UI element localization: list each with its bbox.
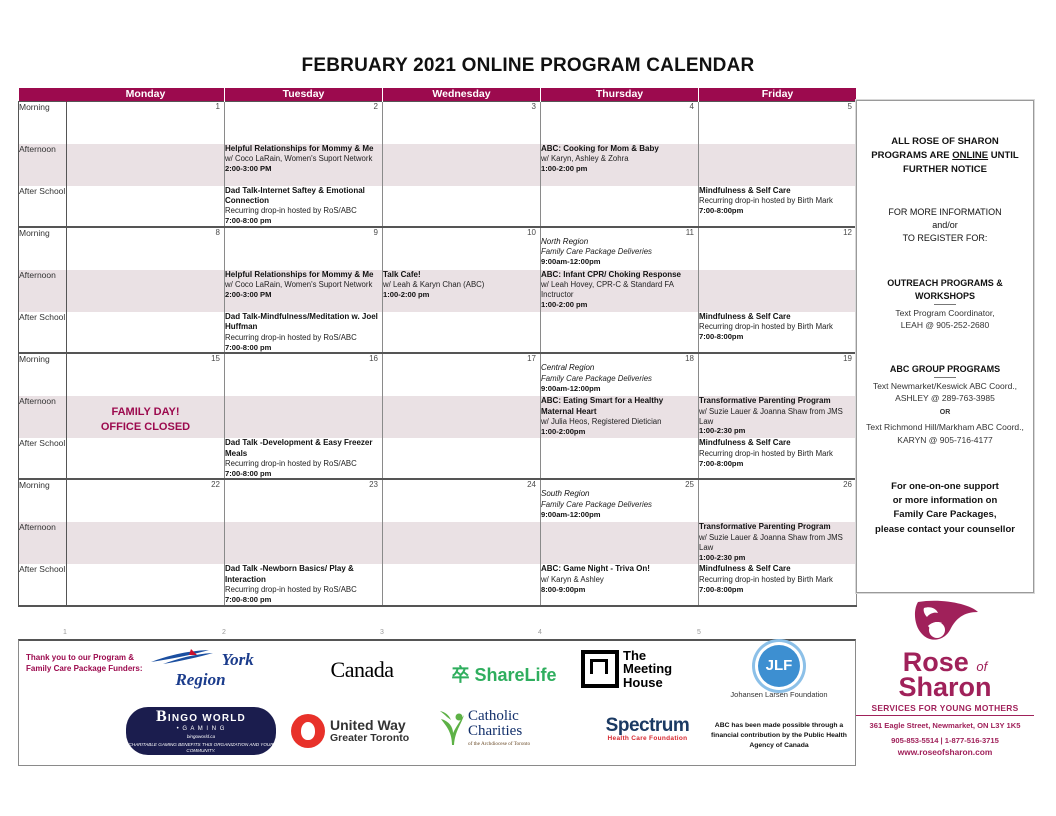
calendar-cell-day-19-morning[interactable]: 19 (699, 353, 857, 396)
event-time: 7:00-8:00pm (699, 206, 856, 216)
johansen-larsen-foundation-logo: JLF Johansen Larsen Foundation (719, 645, 839, 699)
outreach-contact-leah[interactable]: LEAH @ 905-252-2680 (863, 319, 1027, 331)
calendar-cell-day-18-after-school[interactable] (541, 438, 699, 479)
row-label-afternoon: Afternoon (19, 396, 67, 438)
calendar-week-1-row-afternoon: AfternoonHelpful Relationships for Mommy… (19, 144, 857, 186)
event-entry[interactable]: Transformative Parenting Programw/ Suzie… (699, 522, 856, 562)
event-presenter: w/ Suzie Lauer & Joanna Shaw from JMS La… (699, 533, 856, 553)
abc-title: ABC GROUP PROGRAMS (863, 363, 1027, 376)
event-title: Mindfulness & Self Care (699, 564, 856, 574)
outreach-section: OUTREACH PROGRAMS & WORKSHOPS Text Progr… (863, 277, 1027, 331)
calendar-week-4-row-after-school: After SchoolDad Talk -Newborn Basics/ Pl… (19, 564, 857, 605)
event-entry[interactable]: South RegionFamily Care Package Deliveri… (541, 489, 698, 519)
calendar-cell-day-8-morning[interactable]: 8 (67, 227, 225, 270)
abc-sub-3: Text Richmond Hill/Markham ABC Coord., (863, 421, 1027, 433)
ros-name-line-2: Sharon (856, 675, 1034, 700)
abc-contact-karyn[interactable]: KARYN @ 905-716-4177 (863, 434, 1027, 446)
canada-wordmark-logo: Canada (307, 657, 417, 683)
event-presenter: w/ Julia Heos, Registered Dietician (541, 417, 698, 427)
page-title: FEBRUARY 2021 ONLINE PROGRAM CALENDAR (0, 55, 1056, 77)
meeting-house-line-3: House (623, 676, 672, 689)
calendar-cell-day-11-after-school[interactable] (541, 312, 699, 353)
meeting-house-line-1: The (623, 649, 672, 662)
calendar-cell-day-3-after-school[interactable] (383, 186, 541, 227)
row-label-morning: Morning (19, 479, 67, 522)
event-time: 7:00-8:00pm (699, 332, 856, 342)
calendar-cell-day-22-afternoon[interactable] (67, 522, 225, 564)
event-presenter: w/ Suzie Lauer & Joanna Shaw from JMS La… (699, 407, 856, 427)
event-time: 7:00-8:00 pm (225, 469, 382, 479)
calendar-table: Monday Tuesday Wednesday Thursday Friday… (18, 88, 857, 607)
column-number-3: 3 (380, 629, 384, 636)
event-time: 8:00-9:00pm (541, 585, 698, 595)
row-label-morning: Morning (19, 102, 67, 145)
event-entry[interactable]: ABC: Game Night - Triva On!w/ Karyn & As… (541, 564, 698, 594)
calendar-sheet: Monday Tuesday Wednesday Thursday Friday… (18, 88, 1040, 768)
event-title: Transformative Parenting Program (699, 522, 856, 532)
calendar-week-2-row-morning: Morning891011North RegionFamily Care Pac… (19, 227, 857, 270)
calendar-cell-day-8-afternoon[interactable] (67, 270, 225, 312)
calendar-cell-day-5-after-school[interactable]: Mindfulness & Self CareRecurring drop-in… (699, 186, 857, 227)
abc-funding-note: ABC has been made possible through a fin… (709, 721, 849, 751)
calendar-grid-wrapper: Monday Tuesday Wednesday Thursday Friday… (18, 88, 856, 607)
event-entry[interactable]: Helpful Relationships for Mommy & Mew/ C… (225, 144, 382, 174)
calendar-cell-day-4-morning[interactable]: 4 (541, 102, 699, 145)
info-footer-3: Family Care Packages, (863, 508, 1027, 522)
calendar-cell-day-4-afternoon[interactable]: ABC: Cooking for Mom & Babyw/ Karyn, Ash… (541, 144, 699, 186)
event-time: 1:00-2:30 pm (699, 553, 856, 563)
row-label-after-school: After School (19, 312, 67, 353)
event-presenter: w/ Karyn & Ashley (541, 575, 698, 585)
calendar-cell-day-10-after-school[interactable] (383, 312, 541, 353)
united-way-wordmark: United Way Greater Toronto (330, 718, 409, 744)
calendar-cell-day-15-after-school[interactable] (67, 438, 225, 479)
info-footer-1: For one-on-one support (863, 480, 1027, 494)
row-label-afternoon: Afternoon (19, 522, 67, 564)
row-label-morning: Morning (19, 353, 67, 396)
info-footer-4: please contact your counsellor (863, 523, 1027, 537)
event-time: 1:00-2:00 pm (541, 300, 698, 310)
column-number-1: 1 (63, 629, 67, 636)
event-time: 7:00-8:00pm (699, 459, 856, 469)
event-presenter: Family Care Package Deliveries (541, 500, 698, 510)
bingo-line-4: CHARITABLE GAMING BENEFITS THIS ORGANIZA… (126, 742, 276, 753)
calendar-cell-day-8-after-school[interactable] (67, 312, 225, 353)
calendar-cell-day-22-morning[interactable]: 22 (67, 479, 225, 522)
holiday-notice: FAMILY DAY!OFFICE CLOSED (67, 405, 224, 435)
event-time: 1:00-2:30 pm (699, 426, 856, 436)
spectrum-text: Spectrum (606, 715, 690, 736)
day-number-16: 16 (369, 354, 378, 363)
event-time: 1:00-2:00pm (541, 427, 698, 437)
calendar-week-4-row-morning: Morning22232425South RegionFamily Care P… (19, 479, 857, 522)
day-number-8: 8 (216, 228, 220, 237)
calendar-cell-day-11-morning[interactable]: 11North RegionFamily Care Package Delive… (541, 227, 699, 270)
info-line-2: and/or (863, 219, 1027, 232)
calendar-cell-day-17-afternoon[interactable] (383, 396, 541, 438)
day-header-monday: Monday (67, 88, 225, 102)
calendar-cell-day-19-after-school[interactable]: Mindfulness & Self CareRecurring drop-in… (699, 438, 857, 479)
catholic-charities-leaf-icon (439, 711, 465, 745)
day-header-tuesday: Tuesday (225, 88, 383, 102)
york-region-swoosh-icon (147, 649, 217, 665)
canada-wordmark-text: Canada (331, 657, 394, 682)
calendar-cell-day-2-afternoon[interactable]: Helpful Relationships for Mommy & Mew/ C… (225, 144, 383, 186)
event-title: Helpful Relationships for Mommy & Me (225, 144, 382, 154)
event-title: Helpful Relationships for Mommy & Me (225, 270, 382, 280)
calendar-page: FEBRUARY 2021 ONLINE PROGRAM CALENDAR Mo… (0, 0, 1056, 816)
event-time: 2:00-3:00 PM (225, 290, 382, 300)
calendar-cell-day-23-after-school[interactable]: Dad Talk -Newborn Basics/ Play & Interac… (225, 564, 383, 605)
rose-of-sharon-branding: Rose of Sharon SERVICES FOR YOUNG MOTHER… (856, 600, 1034, 766)
bingo-world-badge: BINGO WORLD • G A M I N G bingoworld.ca … (126, 707, 276, 755)
event-presenter: w/ Leah Hovey, CPR-C & Standard FA Inctr… (541, 280, 698, 300)
event-presenter: Recurring drop-in hosted by Birth Mark (699, 196, 856, 206)
calendar-cell-day-1-morning[interactable]: 1 (67, 102, 225, 145)
rose-of-sharon-wordmark: Rose of Sharon (856, 650, 1034, 700)
event-title: ABC: Infant CPR/ Choking Response (541, 270, 698, 280)
calendar-cell-day-25-morning[interactable]: 25South RegionFamily Care Package Delive… (541, 479, 699, 522)
day-header-thursday: Thursday (541, 88, 699, 102)
day-number-10: 10 (527, 228, 536, 237)
row-label-after-school: After School (19, 186, 67, 227)
calendar-cell-day-5-afternoon[interactable] (699, 144, 857, 186)
day-number-9: 9 (374, 228, 378, 237)
day-number-22: 22 (211, 480, 220, 489)
event-entry[interactable]: Transformative Parenting Programw/ Suzie… (699, 396, 856, 436)
calendar-week-3-row-after-school: After SchoolDad Talk -Development & Easy… (19, 438, 857, 479)
event-time: 7:00-8:00pm (699, 585, 856, 595)
abc-sub-1: Text Newmarket/Keswick ABC Coord., (863, 380, 1027, 392)
event-presenter: w/ Karyn, Ashley & Zohra (541, 154, 698, 164)
calendar-cell-day-18-morning[interactable]: 18Central RegionFamily Care Package Deli… (541, 353, 699, 396)
event-presenter: Family Care Package Deliveries (541, 247, 698, 257)
event-presenter: Recurring drop-in hosted by Birth Mark (699, 575, 856, 585)
calendar-week-3-row-afternoon: AfternoonFAMILY DAY!OFFICE CLOSEDABC: Ea… (19, 396, 857, 438)
event-time: 9:00am-12:00pm (541, 257, 698, 267)
column-number-4: 4 (538, 629, 542, 636)
sharelife-wordmark: 卒 ShareLife (451, 665, 556, 685)
meeting-house-logo: The Meeting House (581, 649, 711, 689)
event-entry[interactable]: ABC: Cooking for Mom & Babyw/ Karyn, Ash… (541, 144, 698, 174)
event-title: Dad Talk-Internet Saftey & Emotional Con… (225, 186, 382, 206)
calendar-cell-day-2-morning[interactable]: 2 (225, 102, 383, 145)
united-way-line-2: Greater Toronto (330, 733, 409, 744)
event-time: 7:00-8:00 pm (225, 595, 382, 605)
day-number-2: 2 (374, 102, 378, 111)
day-number-25: 25 (685, 480, 694, 489)
day-number-4: 4 (690, 102, 694, 111)
row-label-afternoon: Afternoon (19, 144, 67, 186)
event-presenter: Recurring drop-in hosted by RoS/ABC (225, 585, 382, 595)
calendar-cell-day-24-after-school[interactable] (383, 564, 541, 605)
event-title: South Region (541, 489, 698, 499)
calendar-cell-day-22-after-school[interactable] (67, 564, 225, 605)
program-info-box: ALL ROSE OF SHARON PROGRAMS ARE ONLINE U… (856, 100, 1034, 593)
calendar-cell-day-9-morning[interactable]: 9 (225, 227, 383, 270)
calendar-cell-day-19-afternoon[interactable]: Transformative Parenting Programw/ Suzie… (699, 396, 857, 438)
calendar-cell-day-25-after-school[interactable]: ABC: Game Night - Triva On!w/ Karyn & As… (541, 564, 699, 605)
event-title: Mindfulness & Self Care (699, 438, 856, 448)
york-region-logo: York Region (143, 649, 258, 690)
event-entry[interactable]: Central RegionFamily Care Package Delive… (541, 363, 698, 393)
calendar-cell-day-9-afternoon[interactable]: Helpful Relationships for Mommy & Mew/ C… (225, 270, 383, 312)
calendar-cell-day-3-morning[interactable]: 3 (383, 102, 541, 145)
catholic-line-1: Catholic (468, 709, 530, 724)
calendar-cell-day-1-afternoon[interactable] (67, 144, 225, 186)
calendar-cell-day-10-morning[interactable]: 10 (383, 227, 541, 270)
event-presenter: Recurring drop-in hosted by Birth Mark (699, 449, 856, 459)
rose-of-sharon-logo-icon (908, 600, 982, 644)
calendar-week-1-row-morning: Morning12345 (19, 102, 857, 145)
spectrum-wordmark: SpectrumHealth Care Foundation (575, 715, 720, 742)
event-entry[interactable]: ABC: Infant CPR/ Choking Responsew/ Leah… (541, 270, 698, 310)
calendar-cell-day-15-afternoon[interactable]: FAMILY DAY!OFFICE CLOSED (67, 396, 225, 438)
bingo-line-2: • G A M I N G (177, 726, 226, 732)
meeting-house-wordmark: The Meeting House (623, 649, 672, 689)
event-presenter: Recurring drop-in hosted by RoS/ABC (225, 459, 382, 469)
funders-panel: 1 2 3 4 5 Thank you to our Program & Fam… (18, 639, 856, 766)
calendar-cell-day-11-afternoon[interactable]: ABC: Infant CPR/ Choking Responsew/ Leah… (541, 270, 699, 312)
event-time: 9:00am-12:00pm (541, 510, 698, 520)
row-label-after-school: After School (19, 438, 67, 479)
abc-contact-ashley[interactable]: ASHLEY @ 289-763-3985 (863, 392, 1027, 404)
united-way-mark-icon (291, 714, 325, 748)
ros-tagline: SERVICES FOR YOUNG MOTHERS (856, 703, 1034, 713)
event-entry[interactable]: ABC: Eating Smart for a Healthy Maternal… (541, 396, 698, 436)
calendar-cell-day-17-after-school[interactable] (383, 438, 541, 479)
abc-funding-note-text: ABC has been made possible through a fin… (709, 721, 849, 751)
event-entry[interactable]: Helpful Relationships for Mommy & Mew/ C… (225, 270, 382, 300)
meeting-house-line-2: Meeting (623, 662, 672, 675)
event-entry[interactable]: North RegionFamily Care Package Deliveri… (541, 237, 698, 267)
event-title: Mindfulness & Self Care (699, 186, 856, 196)
column-number-5: 5 (697, 629, 701, 636)
calendar-cell-day-12-afternoon[interactable] (699, 270, 857, 312)
event-title: ABC: Eating Smart for a Healthy Maternal… (541, 396, 698, 416)
spectrum-health-care-logo: SpectrumHealth Care Foundation (575, 715, 720, 742)
calendar-cell-day-12-morning[interactable]: 12 (699, 227, 857, 270)
event-entry[interactable]: Dad Talk -Development & Easy Freezer Mea… (225, 438, 382, 478)
calendar-header-row: Monday Tuesday Wednesday Thursday Friday (19, 88, 857, 102)
calendar-cell-day-10-afternoon[interactable]: Talk Cafe!w/ Leah & Karyn Chan (ABC)1:00… (383, 270, 541, 312)
day-number-15: 15 (211, 354, 220, 363)
ros-website[interactable]: www.roseofsharon.com (856, 747, 1034, 757)
event-presenter: w/ Leah & Karyn Chan (ABC) (383, 280, 540, 290)
day-header-friday: Friday (699, 88, 857, 102)
event-time: 1:00-2:00 pm (541, 164, 698, 174)
event-title: Dad Talk -Development & Easy Freezer Mea… (225, 438, 382, 458)
day-number-12: 12 (843, 228, 852, 237)
calendar-week-2-row-afternoon: AfternoonHelpful Relationships for Mommy… (19, 270, 857, 312)
spectrum-subtext: Health Care Foundation (575, 735, 720, 742)
calendar-cell-day-26-afternoon[interactable]: Transformative Parenting Programw/ Suzie… (699, 522, 857, 564)
ros-divider (856, 715, 1034, 716)
bingo-world-gaming-logo: BINGO WORLD • G A M I N G bingoworld.ca … (126, 707, 276, 755)
calendar-cell-day-9-after-school[interactable]: Dad Talk-Mindfulness/Meditation w. Joel … (225, 312, 383, 353)
event-title: Mindfulness & Self Care (699, 312, 856, 322)
catholic-line-2: Charities (468, 724, 530, 739)
calendar-cell-day-24-afternoon[interactable] (383, 522, 541, 564)
event-entry[interactable]: Dad Talk -Newborn Basics/ Play & Interac… (225, 564, 382, 604)
calendar-cell-day-4-after-school[interactable] (541, 186, 699, 227)
catholic-charities-logo: Catholic Charities of the Archdiocese of… (439, 709, 589, 747)
event-entry[interactable]: Dad Talk-Mindfulness/Meditation w. Joel … (225, 312, 382, 352)
day-number-18: 18 (685, 354, 694, 363)
outreach-title: OUTREACH PROGRAMS & WORKSHOPS (863, 277, 1027, 302)
day-number-19: 19 (843, 354, 852, 363)
info-footer-block: For one-on-one support or more informati… (863, 480, 1027, 537)
info-line-1: FOR MORE INFORMATION (863, 206, 1027, 219)
calendar-week-4-row-afternoon: AfternoonTransformative Parenting Progra… (19, 522, 857, 564)
info-line-3: TO REGISTER FOR: (863, 232, 1027, 245)
event-title: ABC: Game Night - Triva On! (541, 564, 698, 574)
info-footer-2: or more information on (863, 494, 1027, 508)
row-label-morning: Morning (19, 227, 67, 270)
event-entry[interactable]: Mindfulness & Self CareRecurring drop-in… (699, 186, 856, 216)
event-presenter: Family Care Package Deliveries (541, 374, 698, 384)
event-time: 1:00-2:00 pm (383, 290, 540, 300)
event-title: Transformative Parenting Program (699, 396, 856, 406)
row-label-afternoon: Afternoon (19, 270, 67, 312)
calendar-cell-day-16-morning[interactable]: 16 (225, 353, 383, 396)
event-presenter: w/ Coco LaRain, Women's Suport Network (225, 154, 382, 164)
event-title: Central Region (541, 363, 698, 373)
event-time: 2:00-3:00 PM (225, 164, 382, 174)
event-title: North Region (541, 237, 698, 247)
catholic-line-3: of the Archdiocese of Toronto (468, 741, 530, 747)
calendar-cell-day-2-after-school[interactable]: Dad Talk-Internet Saftey & Emotional Con… (225, 186, 383, 227)
holiday-line: FAMILY DAY! (67, 405, 224, 420)
column-number-strip: 1 2 3 4 5 (19, 629, 857, 641)
event-time: 7:00-8:00 pm (225, 216, 382, 226)
calendar-week-1-row-after-school: After SchoolDad Talk-Internet Saftey & E… (19, 186, 857, 227)
sharelife-text: ShareLife (474, 665, 556, 685)
funders-thank-you: Thank you to our Program & Family Care P… (26, 652, 146, 674)
column-number-2: 2 (222, 629, 226, 636)
event-entry[interactable]: Dad Talk-Internet Saftey & Emotional Con… (225, 186, 382, 226)
info-heading: ALL ROSE OF SHARON PROGRAMS ARE ONLINE U… (863, 135, 1027, 176)
calendar-cell-day-26-morning[interactable]: 26 (699, 479, 857, 522)
calendar-cell-day-16-after-school[interactable]: Dad Talk -Development & Easy Freezer Mea… (225, 438, 383, 479)
event-entry[interactable]: Talk Cafe!w/ Leah & Karyn Chan (ABC)1:00… (383, 270, 540, 300)
event-entry[interactable]: Mindfulness & Self CareRecurring drop-in… (699, 312, 856, 342)
calendar-cell-day-1-after-school[interactable] (67, 186, 225, 227)
abc-divider (934, 377, 956, 378)
calendar-cell-day-17-morning[interactable]: 17 (383, 353, 541, 396)
united-way-line-1: United Way (330, 718, 409, 733)
bingo-line-1: BINGO WORLD (156, 708, 246, 726)
event-title: ABC: Cooking for Mom & Baby (541, 144, 698, 154)
event-time: 7:00-8:00 pm (225, 343, 382, 353)
day-number-26: 26 (843, 480, 852, 489)
event-time: 9:00am-12:00pm (541, 384, 698, 394)
calendar-cell-day-23-morning[interactable]: 23 (225, 479, 383, 522)
info-heading-online: ONLINE (952, 150, 988, 161)
event-title: Dad Talk -Newborn Basics/ Play & Interac… (225, 564, 382, 584)
day-number-24: 24 (527, 480, 536, 489)
united-way-logo: United Way Greater Toronto (291, 714, 441, 748)
abc-section: ABC GROUP PROGRAMS Text Newmarket/Keswic… (863, 363, 1027, 446)
row-label-after-school: After School (19, 564, 67, 605)
outreach-sub-1: Text Program Coordinator, (863, 307, 1027, 319)
calendar-cell-day-18-afternoon[interactable]: ABC: Eating Smart for a Healthy Maternal… (541, 396, 699, 438)
ros-address: 361 Eagle Street, Newmarket, ON L3Y 1K5 (856, 720, 1034, 731)
calendar-week-3-row-morning: Morning15161718Central RegionFamily Care… (19, 353, 857, 396)
calendar-cell-day-15-morning[interactable]: 15 (67, 353, 225, 396)
holiday-line: OFFICE CLOSED (67, 420, 224, 435)
event-presenter: Recurring drop-in hosted by Birth Mark (699, 322, 856, 332)
bingo-line-3: bingoworld.ca (187, 734, 215, 740)
day-number-17: 17 (527, 354, 536, 363)
info-register-block: FOR MORE INFORMATION and/or TO REGISTER … (863, 206, 1027, 245)
event-presenter: Recurring drop-in hosted by RoS/ABC (225, 206, 382, 216)
event-presenter: Recurring drop-in hosted by RoS/ABC (225, 333, 382, 343)
day-number-1: 1 (216, 102, 220, 111)
calendar-body: Morning12345AfternoonHelpful Relationshi… (19, 102, 857, 606)
day-number-5: 5 (848, 102, 852, 111)
calendar-cell-day-3-afternoon[interactable] (383, 144, 541, 186)
house-icon (581, 650, 619, 688)
calendar-cell-day-23-afternoon[interactable] (225, 522, 383, 564)
event-title: Dad Talk-Mindfulness/Meditation w. Joel … (225, 312, 382, 332)
abc-or: OR (863, 408, 1027, 418)
jlf-circle-icon: JLF (758, 645, 800, 687)
ros-phones[interactable]: 905-853-5514 | 1-877-516-3715 (856, 735, 1034, 746)
day-number-23: 23 (369, 480, 378, 489)
calendar-cell-day-25-afternoon[interactable] (541, 522, 699, 564)
sharelife-logo: 卒 ShareLife (439, 661, 569, 687)
sharelife-sl-icon: 卒 (451, 665, 469, 685)
day-number-11: 11 (686, 228, 694, 237)
calendar-cell-day-12-after-school[interactable]: Mindfulness & Self CareRecurring drop-in… (699, 312, 857, 353)
calendar-cell-day-26-after-school[interactable]: Mindfulness & Self CareRecurring drop-in… (699, 564, 857, 605)
event-title: Talk Cafe! (383, 270, 540, 280)
outreach-divider (934, 304, 956, 305)
day-header-wednesday: Wednesday (383, 88, 541, 102)
calendar-cell-day-24-morning[interactable]: 24 (383, 479, 541, 522)
event-entry[interactable]: Mindfulness & Self CareRecurring drop-in… (699, 438, 856, 468)
calendar-week-2-row-after-school: After SchoolDad Talk-Mindfulness/Meditat… (19, 312, 857, 353)
day-number-3: 3 (532, 102, 536, 111)
corner-cell (19, 88, 67, 102)
calendar-cell-day-16-afternoon[interactable] (225, 396, 383, 438)
event-entry[interactable]: Mindfulness & Self CareRecurring drop-in… (699, 564, 856, 594)
event-presenter: w/ Coco LaRain, Women's Suport Network (225, 280, 382, 290)
jlf-label: Johansen Larsen Foundation (719, 690, 839, 699)
calendar-cell-day-5-morning[interactable]: 5 (699, 102, 857, 145)
catholic-charities-wordmark: Catholic Charities of the Archdiocese of… (468, 709, 530, 747)
